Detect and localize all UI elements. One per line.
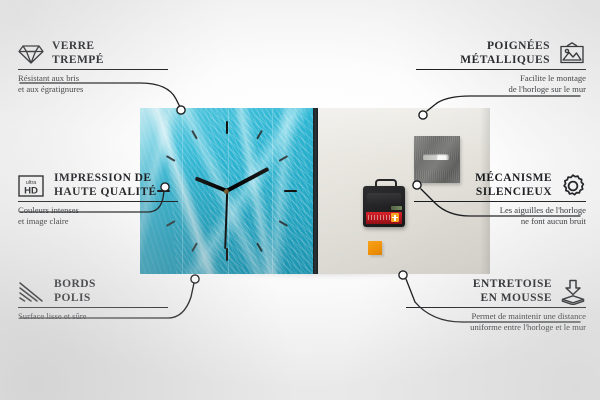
clock-center-cap xyxy=(224,189,229,194)
feature-rule xyxy=(416,69,586,70)
feature-title: IMPRESSION DE HAUTE QUALITÉ xyxy=(54,172,157,199)
feature-entretoise-en-mousse: ENTRETOISE EN MOUSSE Permet de maintenir… xyxy=(406,278,586,333)
battery xyxy=(366,212,402,224)
feature-rule xyxy=(18,69,168,70)
diamond-icon xyxy=(18,43,44,65)
battery-plus-icon xyxy=(391,213,399,222)
feature-title: MÉCANISME SILENCIEUX xyxy=(475,172,552,199)
feature-title: BORDS POLIS xyxy=(54,278,96,305)
clock-tick xyxy=(191,242,198,252)
movement-hanger-hook xyxy=(375,179,397,190)
feature-mecanisme-silencieux: MÉCANISME SILENCIEUX Les aiguilles de l'… xyxy=(414,172,586,227)
feature-bords-polis: BORDS POLIS Surface lisse et sûre xyxy=(18,278,168,322)
gear-icon xyxy=(560,173,586,199)
clock-tick xyxy=(226,121,228,134)
feature-rule xyxy=(18,201,178,202)
feature-title: POIGNÉES MÉTALLIQUES xyxy=(460,40,550,67)
feature-title: VERRE TREMPÉ xyxy=(52,40,104,67)
clock-tick xyxy=(278,220,288,227)
clock-tick xyxy=(284,190,297,192)
polished-edges-icon xyxy=(18,281,46,303)
svg-text:HD: HD xyxy=(24,185,38,196)
foam-spacer-icon xyxy=(560,279,586,305)
clock-second-hand xyxy=(224,191,228,249)
clock-tick xyxy=(165,155,175,162)
clock-minute-hand xyxy=(226,167,269,192)
foam-spacer-piece xyxy=(368,241,382,255)
clock-tick xyxy=(256,242,263,252)
infographic-canvas: VERRE TREMPÉ Résistant aux bris et aux é… xyxy=(0,0,600,400)
feature-impression-haute-qualite: ultra HD IMPRESSION DE HAUTE QUALITÉ Cou… xyxy=(18,172,178,227)
clock-movement-module xyxy=(363,186,405,227)
ultra-hd-icon: ultra HD xyxy=(18,174,46,198)
clock-hour-hand xyxy=(194,176,227,192)
feature-description: Résistant aux bris et aux égratignures xyxy=(18,73,168,95)
feature-description: Les aiguilles de l'horloge ne font aucun… xyxy=(414,205,586,227)
feature-verre-trempe: VERRE TREMPÉ Résistant aux bris et aux é… xyxy=(18,40,168,95)
feature-description: Facilite le montage de l'horloge sur le … xyxy=(416,73,586,95)
clock-tick xyxy=(191,130,198,140)
feature-rule xyxy=(406,307,586,308)
feature-description: Couleurs intenses et image claire xyxy=(18,205,178,227)
clock-tick xyxy=(256,130,263,140)
feature-rule xyxy=(18,307,168,308)
feature-description: Surface lisse et sûre xyxy=(18,311,168,322)
feature-title: ENTRETOISE EN MOUSSE xyxy=(473,278,552,305)
feature-poignees-metalliques: POIGNÉES MÉTALLIQUES Facilite le montage… xyxy=(416,40,586,95)
feature-rule xyxy=(414,201,586,202)
picture-hanger-icon xyxy=(558,42,586,66)
feature-description: Permet de maintenir une distance uniform… xyxy=(406,311,586,333)
clock-tick xyxy=(226,248,228,261)
clock-tick xyxy=(278,155,288,162)
